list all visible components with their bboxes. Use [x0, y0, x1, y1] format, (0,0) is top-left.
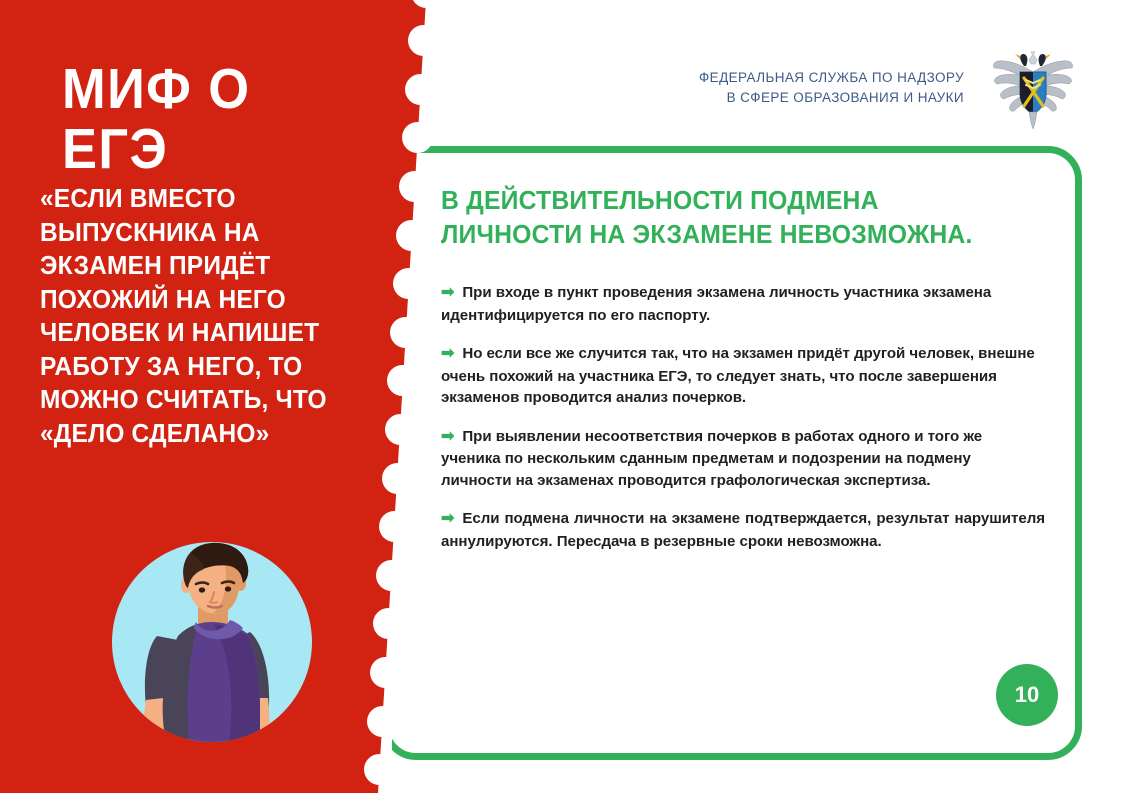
bullet-item-3: ➡При выявлении несоответствия почерков в… — [441, 426, 1045, 492]
bullet-list: ➡При входе в пункт проведения экзамена л… — [441, 282, 1045, 569]
arrow-right-icon: ➡ — [441, 343, 454, 366]
bullet-item-4: ➡Если подмена личности на экзамене подтв… — [441, 508, 1045, 552]
page-number-badge: 10 — [996, 664, 1058, 726]
arrow-right-icon: ➡ — [441, 282, 454, 305]
arrow-right-icon: ➡ — [441, 508, 454, 531]
myth-quote-text: «ЕСЛИ ВМЕСТО ВЫПУСКНИКА НА ЭКЗАМЕН ПРИДЁ… — [40, 183, 357, 451]
card-heading: В ДЕЙСТВИТЕЛЬНОСТИ ПОДМЕНА ЛИЧНОСТИ НА Э… — [441, 185, 1023, 253]
bullet-item-1: ➡При входе в пункт проведения экзамена л… — [441, 282, 1045, 326]
page-title: МИФ О ЕГЭ — [62, 60, 366, 180]
bullet-text: Но если все же случится так, что на экза… — [441, 345, 1035, 406]
bullet-item-2: ➡Но если все же случится так, что на экз… — [441, 343, 1045, 409]
arrow-right-icon: ➡ — [441, 426, 454, 449]
organization-header: ФЕДЕРАЛЬНАЯ СЛУЖБА ПО НАДЗОРУ В СФЕРЕ ОБ… — [699, 68, 964, 109]
org-header-line-2: В СФЕРЕ ОБРАЗОВАНИЯ И НАУКИ — [699, 88, 964, 108]
bullet-text: При входе в пункт проведения экзамена ли… — [441, 284, 991, 324]
slide-canvas: МИФ О ЕГЭ «ЕСЛИ ВМЕСТО ВЫПУСКНИКА НА ЭКЗ… — [0, 0, 1122, 793]
bullet-text: При выявлении несоответствия почерков в … — [441, 428, 982, 489]
rosobrnadzor-eagle-emblem — [991, 50, 1075, 130]
bullet-text: Если подмена личности на экзамене подтве… — [441, 510, 1045, 550]
org-header-line-1: ФЕДЕРАЛЬНАЯ СЛУЖБА ПО НАДЗОРУ — [699, 68, 964, 88]
young-man-illustration — [110, 540, 314, 744]
